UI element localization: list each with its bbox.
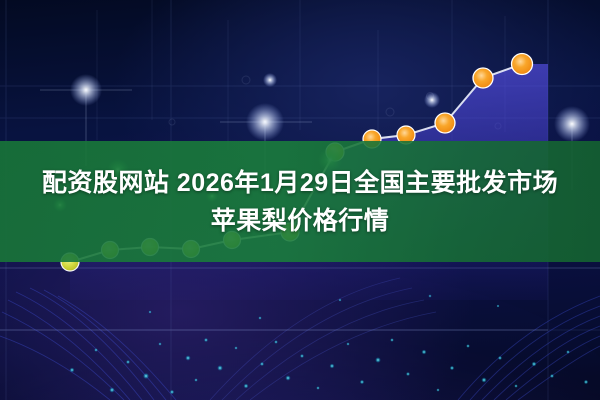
banner-image: 配资股网站 2026年1月29日全国主要批发市场 苹果梨价格行情 xyxy=(0,0,600,400)
title-line-primary: 配资股网站 2026年1月29日全国主要批发市场 xyxy=(42,164,558,202)
title-line-secondary: 苹果梨价格行情 xyxy=(211,202,390,240)
page-title: 配资股网站 2026年1月29日全国主要批发市场 苹果梨价格行情 xyxy=(0,141,600,262)
